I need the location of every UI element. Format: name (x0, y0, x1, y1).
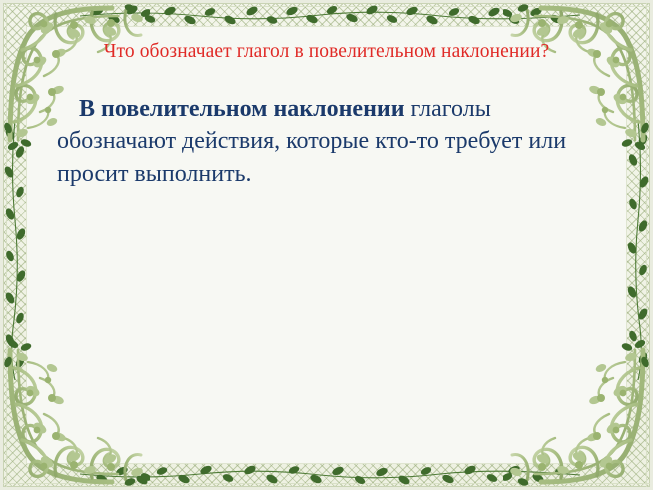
slide-text-container: Что обозначает глагол в повелительном на… (27, 27, 626, 463)
border-rule-bottom (3, 483, 650, 484)
border-rule-right (646, 3, 647, 487)
slide-title: Что обозначает глагол в повелительном на… (55, 39, 598, 65)
slide-body-lead: В повелительном наклонении (79, 96, 405, 122)
border-rule-top (3, 6, 650, 7)
slide-body-paragraph: В повелительном наклонении глаголы обозн… (55, 93, 598, 191)
border-rule-left (6, 3, 7, 487)
presentation-slide: Что обозначает глагол в повелительном на… (0, 0, 653, 490)
